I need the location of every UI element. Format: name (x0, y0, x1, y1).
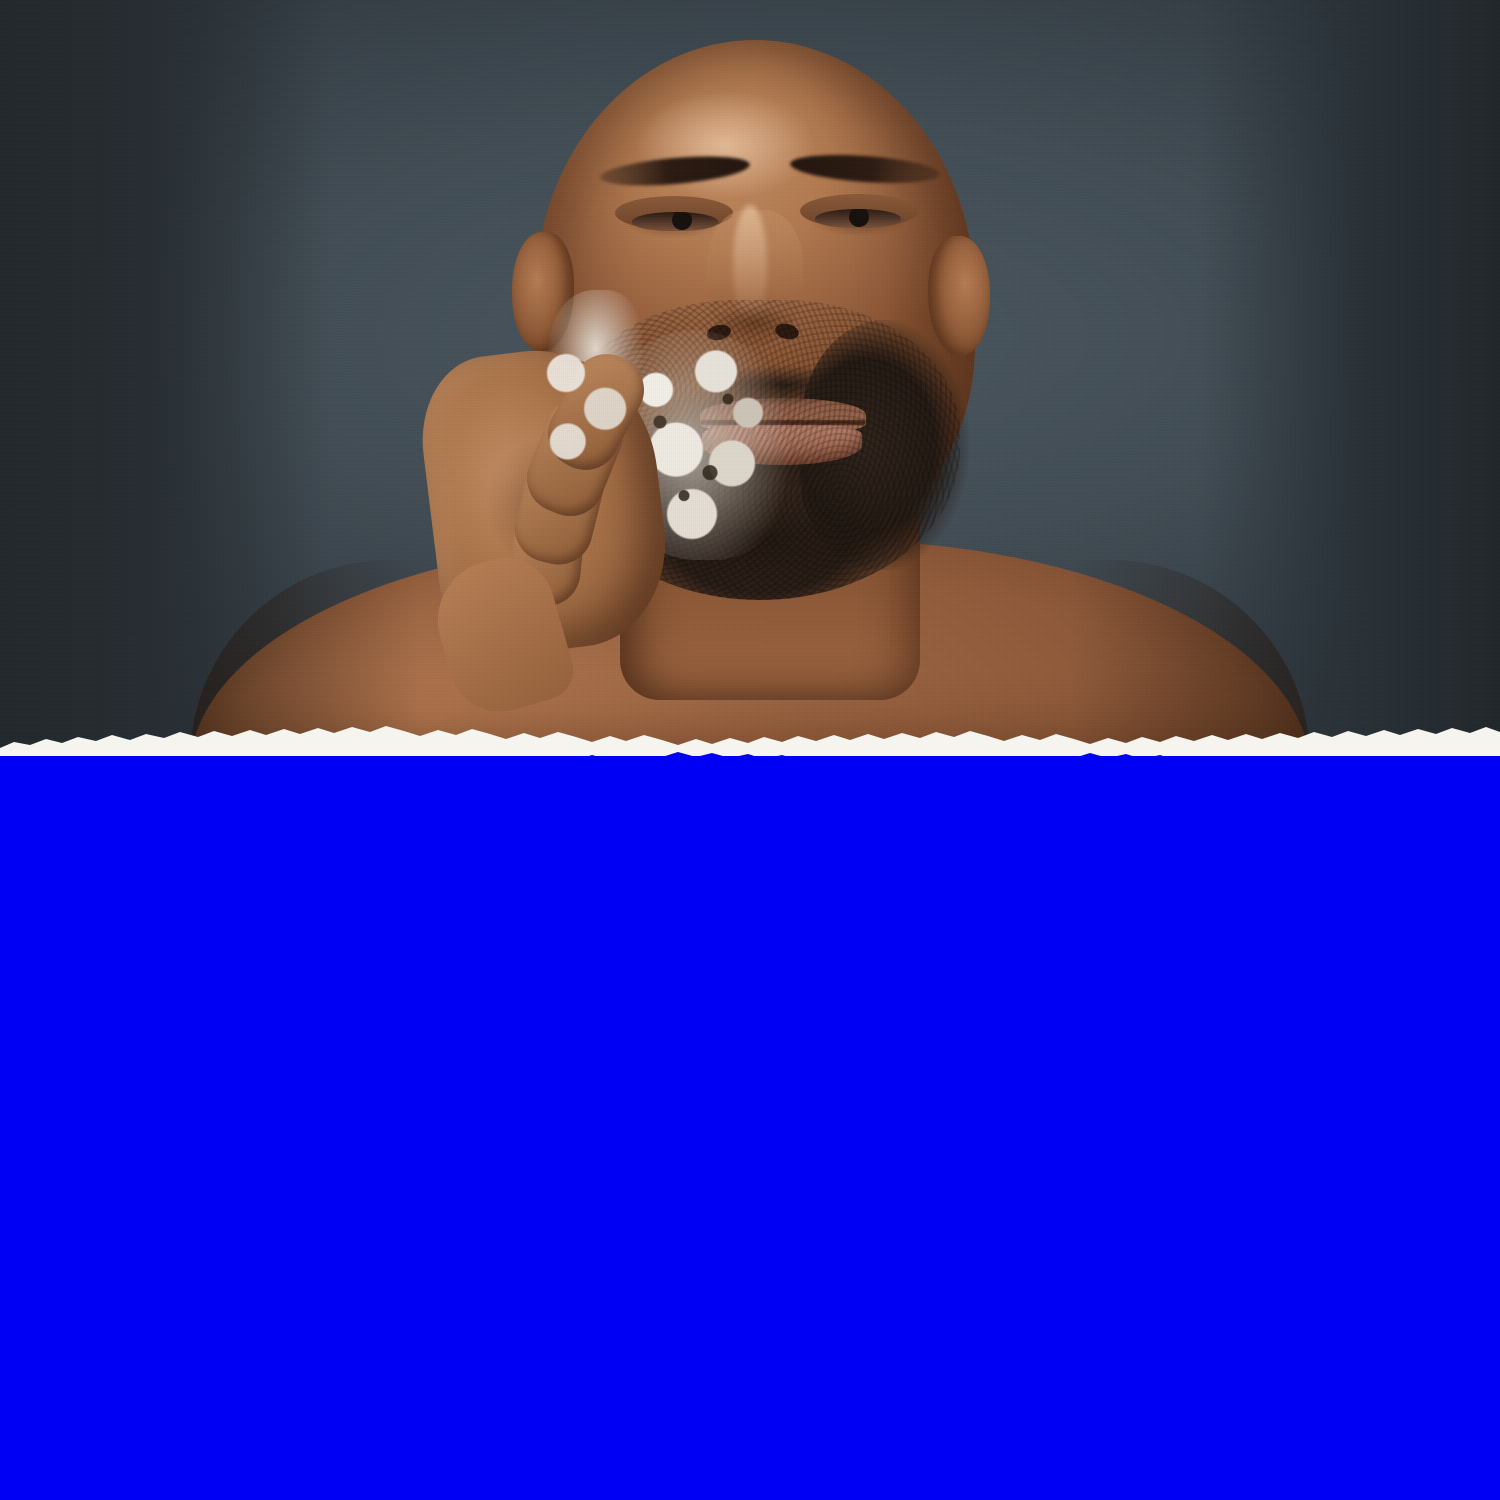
instructions-panel: USE TOGETHER FOR A SUPREMELY SOFT & MANA… (0, 756, 1500, 1500)
hero-photo (0, 0, 1500, 760)
product-infographic: USE TOGETHER FOR A SUPREMELY SOFT & MANA… (0, 0, 1500, 1500)
photo-film-grain (0, 0, 1500, 760)
